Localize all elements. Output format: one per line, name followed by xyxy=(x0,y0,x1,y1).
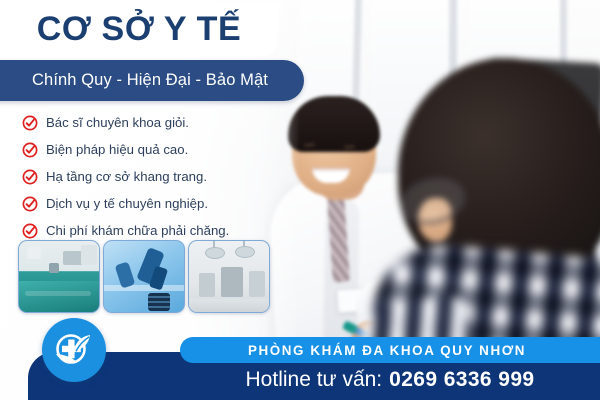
check-circle-icon xyxy=(22,142,38,158)
check-circle-icon xyxy=(22,115,38,131)
list-item-label: Chi phí khám chữa phải chăng. xyxy=(46,220,229,242)
list-item-label: Bác sĩ chuyên khoa giỏi. xyxy=(46,112,189,134)
subtitle-bar: Chính Quy - Hiện Đại - Bảo Mật xyxy=(0,60,304,101)
hotline-row: Hotline tư vấn: 0269 6336 999 xyxy=(180,364,600,396)
subtitle-text: Chính Quy - Hiện Đại - Bảo Mật xyxy=(0,60,304,101)
clinic-name-label: PHÒNG KHÁM ĐA KHOA QUY NHƠN xyxy=(180,337,600,363)
check-circle-icon xyxy=(22,169,38,185)
microscope-photo xyxy=(103,240,185,313)
list-item: Chi phí khám chữa phải chăng. xyxy=(22,220,284,242)
check-circle-icon xyxy=(22,196,38,212)
list-item: Biện pháp hiệu quả cao. xyxy=(22,139,284,161)
clinic-advertisement-banner: CƠ SỞ Y TẾ Chính Quy - Hiện Đại - Bảo Mậ… xyxy=(0,0,600,400)
hotline-label: Hotline tư vấn: xyxy=(246,368,383,392)
list-item: Bác sĩ chuyên khoa giỏi. xyxy=(22,112,284,134)
check-circle-icon xyxy=(22,223,38,239)
page-title: CƠ SỞ Y TẾ xyxy=(0,12,278,46)
medical-equipment-room-photo xyxy=(188,240,270,313)
feature-list: Bác sĩ chuyên khoa giỏi. Biện pháp hiệu … xyxy=(22,112,284,247)
clinic-logo xyxy=(42,318,106,382)
list-item-label: Hạ tầng cơ sở khang trang. xyxy=(46,166,207,188)
hotline-number[interactable]: 0269 6336 999 xyxy=(389,368,534,392)
list-item-label: Dịch vụ y tế chuyên nghiệp. xyxy=(46,193,208,215)
list-item: Dịch vụ y tế chuyên nghiệp. xyxy=(22,193,284,215)
clinic-name-ribbon: PHÒNG KHÁM ĐA KHOA QUY NHƠN xyxy=(180,337,600,363)
facility-thumbnail-strip xyxy=(18,240,270,313)
list-item-label: Biện pháp hiệu quả cao. xyxy=(46,139,188,161)
list-item: Hạ tầng cơ sở khang trang. xyxy=(22,166,284,188)
operating-room-photo xyxy=(18,240,100,313)
